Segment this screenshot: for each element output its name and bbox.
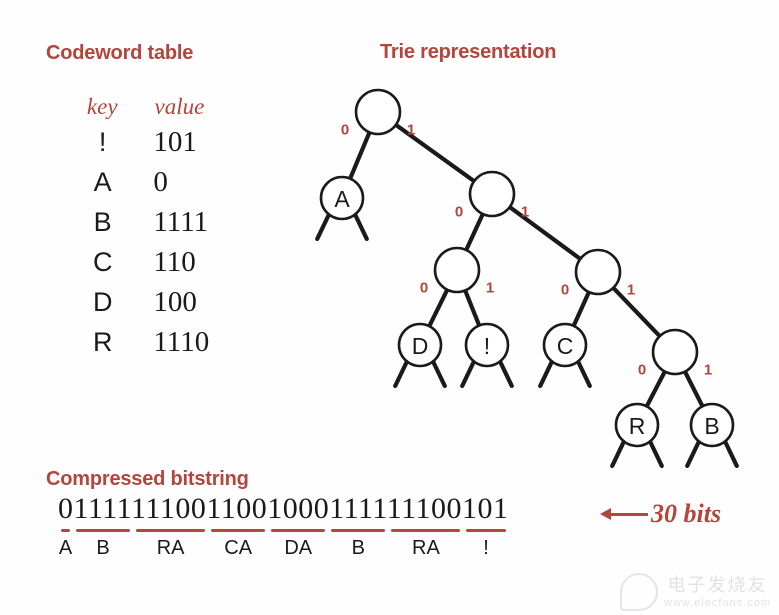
table-row: B1111	[58, 202, 268, 242]
group-underline	[466, 529, 505, 532]
trie-edge-n11-n-C	[574, 292, 589, 326]
codeword-key: !	[58, 127, 147, 158]
bitstring-group: CA	[208, 529, 268, 560]
codeword-value: 1110	[147, 326, 268, 359]
trie-edge-n111-n-R	[647, 372, 665, 407]
node-label: A	[334, 186, 350, 212]
group-label: RA	[388, 537, 463, 560]
trie-node-n111	[653, 330, 697, 374]
codeword-value: 101	[147, 126, 268, 159]
trie-node-A: A	[321, 177, 363, 219]
group-underline	[331, 529, 385, 532]
bit-count-annotation: 30 bits	[600, 498, 721, 530]
leaf-stub	[317, 214, 329, 239]
leaf-stub	[433, 361, 445, 386]
leaf-stub	[355, 214, 367, 239]
watermark: 电子发烧友 www.elecfans.com	[664, 571, 771, 609]
trie-node-n10	[435, 248, 479, 292]
bitstring-group: !	[463, 529, 508, 560]
trie-node-layer: AD!CRB	[321, 90, 733, 446]
codeword-table: key value !101A0B1111C110D100R1110	[58, 92, 268, 362]
group-label: CA	[208, 537, 268, 560]
trie-diagram: AD!CRB 0101010101	[280, 70, 770, 490]
node-circle	[653, 330, 697, 374]
node-label: C	[557, 333, 574, 359]
group-label: DA	[268, 537, 328, 560]
group-label: B	[328, 537, 388, 560]
table-row: R1110	[58, 322, 268, 362]
trie-edge-label-1: 1	[627, 282, 635, 299]
bitstring-group-annotations: ABRACADABRA!	[58, 529, 509, 571]
leaf-stub	[612, 441, 624, 466]
page-title-compressed-bitstring: Compressed bitstring	[46, 468, 249, 491]
group-underline	[61, 529, 70, 532]
trie-edge-n111-n-B	[685, 372, 703, 407]
leaf-stub	[578, 361, 590, 386]
trie-edge-label-0: 0	[638, 362, 646, 379]
bitstring-group: A	[58, 529, 73, 560]
codeword-value: 1111	[147, 206, 268, 239]
trie-node-!: !	[466, 324, 508, 366]
trie-edge-layer	[350, 125, 702, 407]
bitstring-group: RA	[388, 529, 463, 560]
leaf-stub	[725, 441, 737, 466]
trie-edge-n1-n10	[466, 214, 483, 250]
page-title-codeword-table: Codeword table	[46, 42, 193, 65]
trie-edge-label-0: 0	[420, 280, 428, 297]
group-label: A	[58, 537, 73, 560]
bit-count-label: 30 bits	[651, 499, 721, 529]
group-label: B	[73, 537, 133, 560]
trie-edge-n11-n111	[613, 288, 659, 336]
leaf-stub	[650, 441, 662, 466]
watermark-logo-icon	[620, 573, 658, 611]
bitstring-group: RA	[133, 529, 208, 560]
bitstring-group: B	[328, 529, 388, 560]
node-label: B	[704, 413, 719, 439]
codeword-value: 0	[147, 166, 268, 199]
node-circle	[435, 248, 479, 292]
leaf-stub	[540, 361, 552, 386]
codeword-key: R	[58, 327, 147, 358]
trie-node-B: B	[691, 404, 733, 446]
trie-node-R: R	[616, 404, 658, 446]
node-circle	[356, 90, 400, 134]
trie-edge-label-1: 1	[486, 280, 494, 297]
node-label: !	[484, 333, 490, 359]
codeword-key: B	[58, 207, 147, 238]
watermark-url: www.elecfans.com	[664, 597, 771, 609]
trie-edge-n10-n-D	[429, 290, 447, 326]
bitstring-group: B	[73, 529, 133, 560]
leaf-stub	[500, 361, 512, 386]
node-label: R	[629, 413, 646, 439]
group-underline	[271, 529, 325, 532]
table-row: C110	[58, 242, 268, 282]
node-label: D	[412, 333, 429, 359]
column-header-key: key	[58, 94, 147, 120]
leaf-stub	[395, 361, 407, 386]
page-title-trie-representation: Trie representation	[380, 41, 556, 64]
leaf-stub	[462, 361, 474, 386]
group-underline	[136, 529, 205, 532]
codeword-value: 100	[147, 286, 268, 319]
codeword-value: 110	[147, 246, 268, 279]
group-label: RA	[133, 537, 208, 560]
codeword-key: D	[58, 287, 147, 318]
trie-node-root	[356, 90, 400, 134]
trie-node-n1	[470, 172, 514, 216]
trie-edge-label-1: 1	[704, 362, 712, 379]
trie-edge-label-1: 1	[521, 204, 529, 221]
node-circle	[576, 250, 620, 294]
codeword-table-body: !101A0B1111C110D100R1110	[58, 122, 268, 362]
leaf-stub	[687, 441, 699, 466]
trie-edge-label-1: 1	[407, 122, 415, 139]
node-circle	[470, 172, 514, 216]
codeword-key: C	[58, 247, 147, 278]
table-row: !101	[58, 122, 268, 162]
watermark-chinese-text: 电子发烧友	[664, 571, 771, 597]
group-underline	[76, 529, 130, 532]
column-header-value: value	[147, 94, 269, 120]
trie-edge-root-n-A	[350, 132, 369, 178]
trie-node-C: C	[544, 324, 586, 366]
codeword-table-header: key value	[58, 92, 268, 122]
group-underline	[391, 529, 460, 532]
trie-edge-label-0: 0	[455, 204, 463, 221]
codeword-key: A	[58, 167, 147, 198]
trie-edge-label-0: 0	[561, 282, 569, 299]
arrow-left-icon	[600, 508, 648, 520]
trie-node-D: D	[399, 324, 441, 366]
table-row: D100	[58, 282, 268, 322]
trie-node-n11	[576, 250, 620, 294]
table-row: A0	[58, 162, 268, 202]
group-underline	[211, 529, 265, 532]
compressed-bitstring-block: 011111110011001000111111100101 ABRACADAB…	[58, 494, 509, 571]
bitstring-group: DA	[268, 529, 328, 560]
bitstring-value: 011111110011001000111111100101	[58, 494, 509, 524]
trie-edge-label-0: 0	[341, 122, 349, 139]
trie-edge-n10-n-Ex	[465, 290, 479, 325]
group-label: !	[463, 537, 508, 560]
